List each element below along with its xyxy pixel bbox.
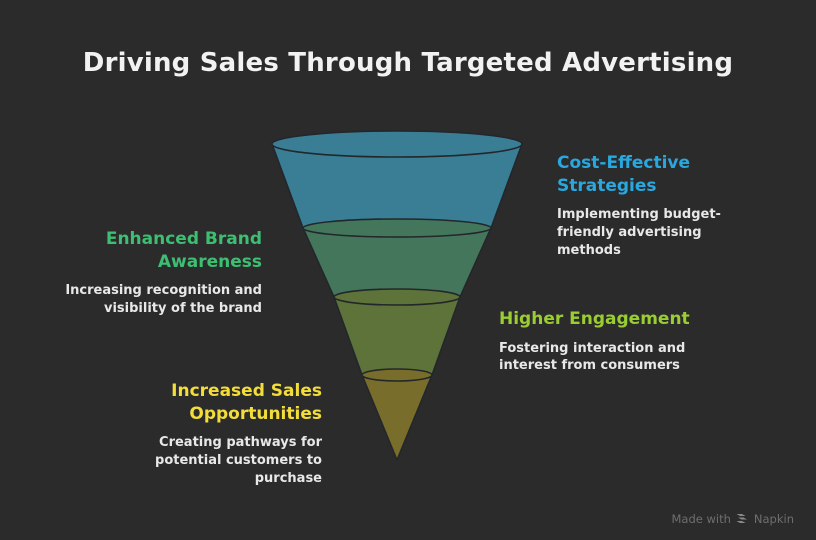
funnel-segment-higher-engagement[interactable] [334, 289, 460, 381]
callout-heading-increased-sales-opportunities: Increased Sales Opportunities [122, 380, 322, 425]
funnel-segment-4-rim [362, 369, 432, 381]
callout-heading-higher-engagement: Higher Engagement [499, 308, 709, 331]
callout-body-enhanced-brand-awareness: Increasing recognition and visibility of… [62, 282, 262, 318]
callout-cost-effective-strategies: Cost-Effective Strategies Implementing b… [557, 152, 757, 260]
diagram-canvas: Driving Sales Through Targeted Advertisi… [0, 0, 816, 540]
funnel-segment-increased-sales-opportunities[interactable] [362, 369, 432, 460]
napkin-logo-icon [736, 513, 749, 525]
watermark-prefix-label: Made with [672, 512, 731, 526]
funnel-segment-1-rim [272, 131, 522, 157]
funnel-segment-2-rim [303, 219, 491, 237]
callout-enhanced-brand-awareness: Enhanced Brand Awareness Increasing reco… [62, 228, 262, 318]
funnel-segment-3-rim [334, 289, 460, 305]
callout-higher-engagement: Higher Engagement Fostering interaction … [499, 308, 709, 375]
page-title: Driving Sales Through Targeted Advertisi… [0, 48, 816, 78]
callout-body-higher-engagement: Fostering interaction and interest from … [499, 340, 709, 376]
callout-heading-enhanced-brand-awareness: Enhanced Brand Awareness [62, 228, 262, 273]
callout-body-cost-effective-strategies: Implementing budget-friendly advertising… [557, 206, 757, 259]
callout-heading-cost-effective-strategies: Cost-Effective Strategies [557, 152, 757, 197]
watermark-brand-label: Napkin [754, 512, 794, 526]
napkin-watermark[interactable]: Made with Napkin [672, 512, 795, 526]
callout-body-increased-sales-opportunities: Creating pathways for potential customer… [122, 434, 322, 487]
callout-increased-sales-opportunities: Increased Sales Opportunities Creating p… [122, 380, 322, 488]
funnel-segment-4-body [362, 375, 432, 460]
